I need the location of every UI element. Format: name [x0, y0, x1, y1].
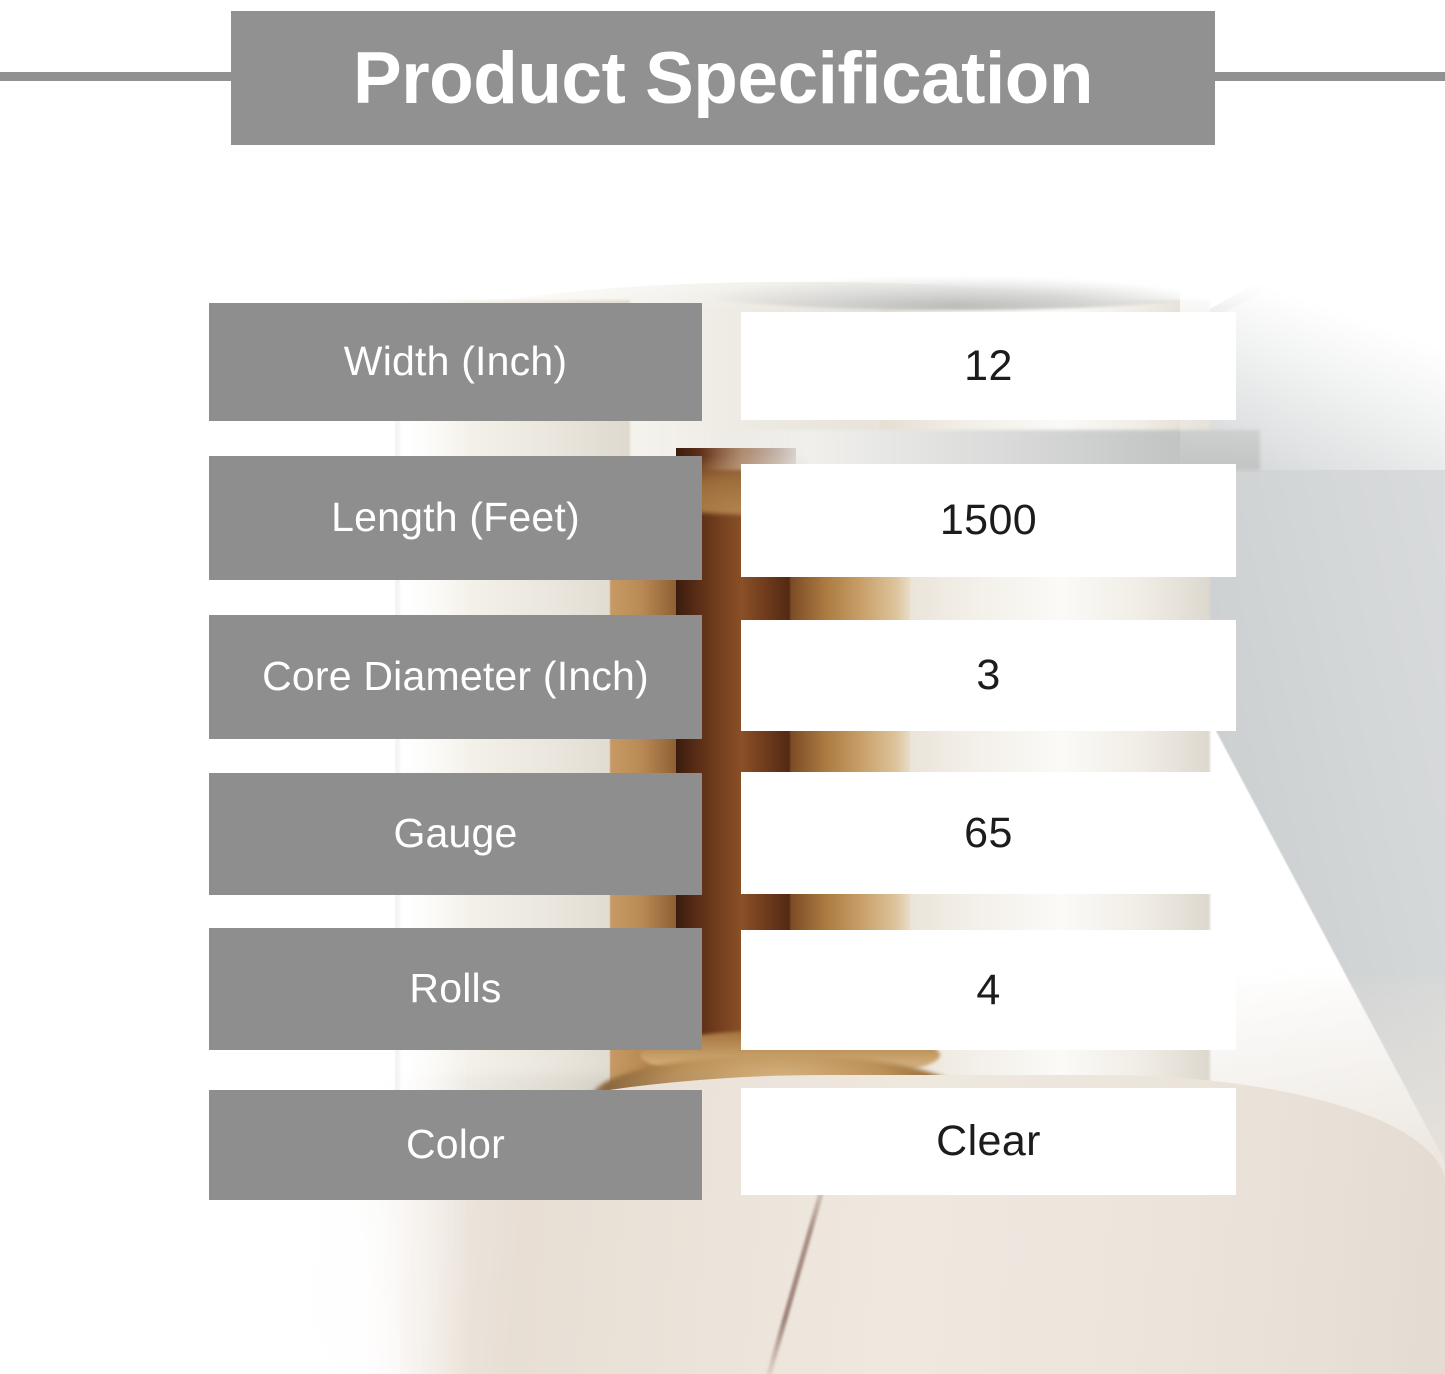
product-specification-page: Product Specification Width (Inch) 12 Le… — [0, 0, 1445, 1374]
spec-value-gauge: 65 — [741, 772, 1236, 894]
spec-label-length: Length (Feet) — [209, 456, 702, 580]
spec-label-rolls: Rolls — [209, 928, 702, 1050]
spec-value-core-diameter: 3 — [741, 620, 1236, 731]
spec-label-gauge: Gauge — [209, 773, 702, 895]
spec-label-core-diameter: Core Diameter (Inch) — [209, 615, 702, 739]
spec-value-width: 12 — [741, 312, 1236, 420]
spec-value-rolls: 4 — [741, 930, 1236, 1050]
spec-value-color: Clear — [741, 1088, 1236, 1195]
spec-value-length: 1500 — [741, 464, 1236, 577]
spec-label-color: Color — [209, 1090, 702, 1200]
spec-label-width: Width (Inch) — [209, 303, 702, 421]
specification-table: Width (Inch) 12 Length (Feet) 1500 Core … — [0, 0, 1445, 1374]
